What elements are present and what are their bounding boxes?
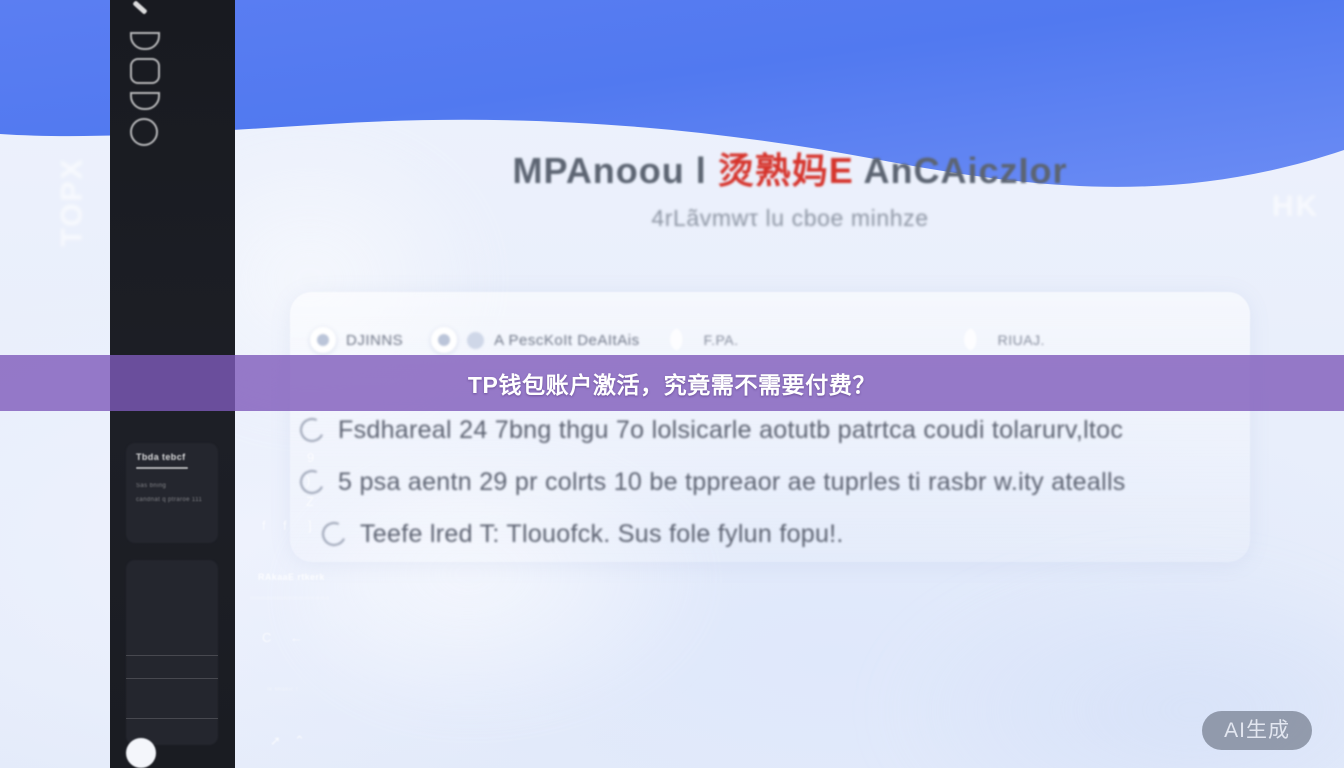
- circle-icon[interactable]: [130, 118, 158, 146]
- chip-label-1: DJINNS: [346, 332, 403, 349]
- chip-label-4: RIUAJ.: [998, 332, 1045, 348]
- sidebar-card-a-glyph-6[interactable]: ]: [308, 518, 312, 533]
- hero-title-accent: 烫熟妈E: [718, 150, 854, 191]
- hero-subtitle: 4rLãvmwτ lu cboe minhze: [236, 205, 1344, 232]
- chip-dot-icon: [467, 332, 484, 349]
- chip-item-1[interactable]: DJINNS: [310, 327, 403, 353]
- sidebar-card-a-underline: [136, 467, 188, 469]
- app-screenshot: TOPX HK MPAnoou l 烫熟妈E AnCAiczIor 4rLãvm…: [0, 0, 1344, 768]
- bowl-outline-icon[interactable]: [130, 92, 160, 110]
- sidebar-refresh-icon[interactable]: C: [262, 630, 271, 645]
- overlay-title-text: TP钱包账户激活，究竟需不需要付费？: [468, 366, 876, 400]
- bullet-text-2: 5 psa aentn 29 pr colrts 10 be tppreaor …: [338, 468, 1126, 497]
- user-avatar[interactable]: [126, 738, 156, 768]
- bowl-icon[interactable]: [130, 32, 160, 50]
- cloud-badge-icon: [431, 327, 457, 353]
- overlay-title-band: TP钱包账户激活，究竟需不需要付费？: [0, 355, 1344, 411]
- ai-generated-badge: AI生成: [1202, 711, 1312, 750]
- feature-chip-row: DJINNS A PescKoIt DeAItAis F.PA. RIUAJ.: [310, 322, 1240, 358]
- sidebar-card-a-subline-1: Sas bning: [136, 483, 166, 489]
- sidebar-card-a-glyph-2: ): [306, 473, 310, 488]
- sidebar-back-icon[interactable]: ←: [290, 630, 303, 645]
- sidebar-card-a-glyph-1: 9: [307, 450, 314, 465]
- chip-item-3[interactable]: F.PA.: [668, 327, 739, 353]
- hero-section: MPAnoou l 烫熟妈E AnCAiczIor 4rLãvmwτ lu cb…: [236, 150, 1344, 232]
- hero-title-before: MPAnoou l: [512, 150, 706, 191]
- background-ghost-mark-left: TOPX: [56, 157, 90, 246]
- bullet-arrow-icon-3: [319, 519, 350, 550]
- crescent-icon-2: [962, 327, 988, 353]
- pen-icon[interactable]: [130, 4, 150, 24]
- sidebar-divider-3: [126, 718, 218, 719]
- sidebar-divider-2: [126, 678, 218, 679]
- bullet-text-1: Fsdhareal 24 7bng thgu 7o lolsicarle aot…: [338, 416, 1123, 445]
- sidebar-card-b-subline: mmmmmmmmmmmmmmd: [250, 596, 329, 602]
- bullet-arrow-icon-2: [297, 467, 328, 498]
- chip-label-3: F.PA.: [704, 332, 739, 348]
- bullet-row-1: Fsdhareal 24 7bng thgu 7o lolsicarle aot…: [300, 404, 1250, 456]
- circle-badge-icon: [310, 327, 336, 353]
- sidebar-tool-icons: [130, 4, 160, 146]
- crescent-icon-1: [668, 327, 694, 353]
- sidebar-card-b-title: RAkaaE rtkerk: [258, 572, 325, 582]
- bullet-row-2: 5 psa aentn 29 pr colrts 10 be tppreaor …: [300, 456, 1250, 508]
- chip-item-2[interactable]: A PescKoIt DeAItAis: [431, 327, 639, 353]
- sidebar-card-a-glyph-3: Z: [306, 494, 314, 509]
- sidebar-divider-1: [126, 655, 218, 656]
- sidebar-card-b-footer: Ik Mlakic.t: [267, 687, 298, 693]
- cup-icon[interactable]: [130, 58, 160, 84]
- bullet-arrow-icon: [297, 415, 328, 446]
- bullet-list: Fsdhareal 24 7bng thgu 7o lolsicarle aot…: [300, 404, 1250, 560]
- hero-title: MPAnoou l 烫熟妈E AnCAiczIor: [236, 150, 1344, 191]
- bullet-text-3: Teefe lred T: Tlouofck. Sus fole fylun f…: [360, 520, 844, 549]
- sidebar-card-a-title: Tbda tebcf: [136, 452, 186, 462]
- hero-title-after: AnCAiczIor: [863, 150, 1067, 191]
- sidebar-card-a-glyph-5[interactable]: f: [283, 518, 287, 533]
- bullet-row-3: Teefe lred T: Tlouofck. Sus fole fylun f…: [300, 508, 1250, 560]
- sidebar-card-a-glyph-4[interactable]: f: [262, 518, 266, 533]
- chip-item-4[interactable]: RIUAJ.: [962, 327, 1045, 353]
- chip-label-2: A PescKoIt DeAItAis: [494, 332, 639, 349]
- image-icon[interactable]: ⌃: [294, 733, 305, 749]
- cursor-icon[interactable]: ➚: [270, 733, 281, 749]
- sidebar-card-a-subline-2: candnat q ptraroe 111: [136, 497, 202, 503]
